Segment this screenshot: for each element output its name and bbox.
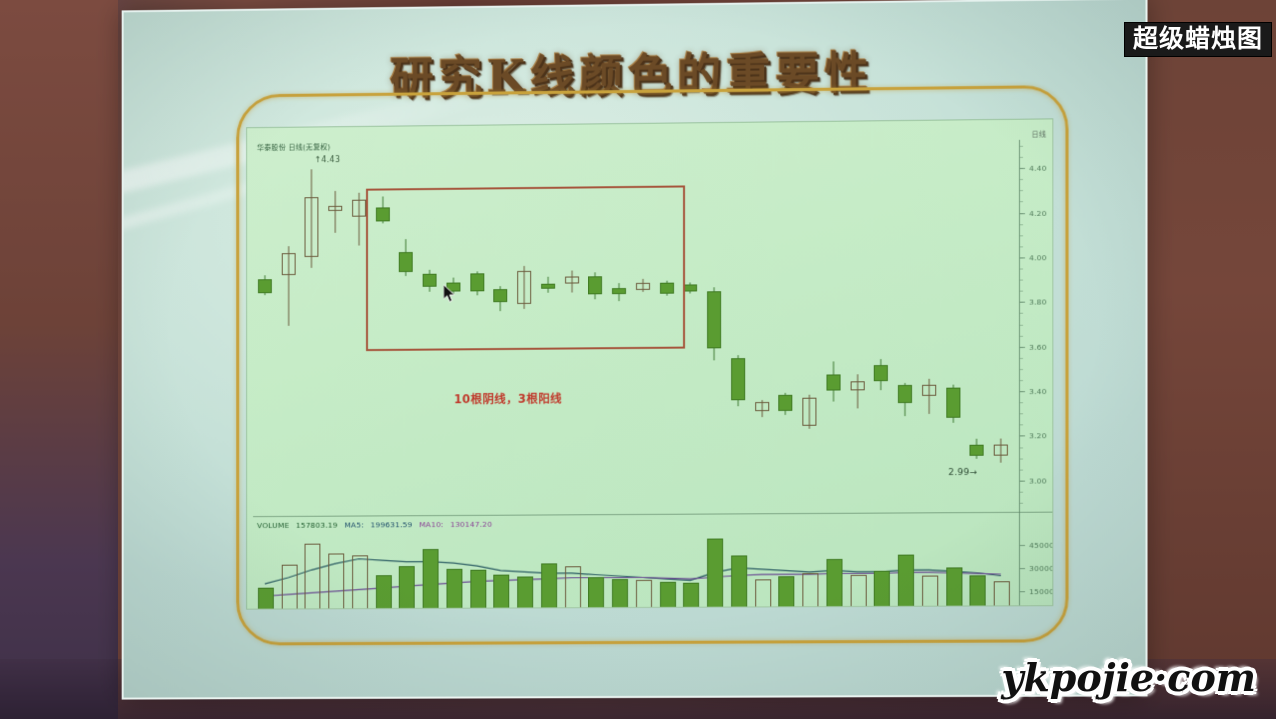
axis-minor-tick xyxy=(1020,414,1023,415)
candle-body xyxy=(970,445,984,456)
volume-bar xyxy=(994,581,1010,609)
candle-body xyxy=(281,253,295,275)
price-axis-label: 3.60 xyxy=(1029,342,1047,351)
candlestick xyxy=(281,154,295,507)
volume-bar xyxy=(970,575,986,609)
volume-bar xyxy=(946,568,962,610)
candlestick xyxy=(731,149,745,505)
axis-minor-tick xyxy=(1020,246,1023,247)
volume-bar xyxy=(898,554,914,610)
volume-axis-label: 30000 xyxy=(1029,563,1053,572)
price-axis-label: 3.20 xyxy=(1029,431,1047,440)
candle-body xyxy=(850,381,864,390)
price-axis-label: 4.40 xyxy=(1029,163,1047,172)
candlestick xyxy=(850,148,864,504)
candle-wick xyxy=(857,375,858,408)
axis-minor-tick xyxy=(1020,492,1023,493)
volume-bar xyxy=(517,576,533,610)
candle-body xyxy=(779,395,793,410)
candle-wick xyxy=(929,379,930,415)
axis-minor-tick xyxy=(1020,179,1023,180)
volume-bar xyxy=(589,577,605,609)
chart-header-corner: 日线 xyxy=(1032,129,1047,140)
candlestick xyxy=(946,147,960,504)
candle-body xyxy=(731,358,745,400)
axis-minor-tick xyxy=(1020,335,1023,336)
chart-header-title: 华泰股份 日线(无复权) xyxy=(257,142,331,153)
price-axis-label: 3.40 xyxy=(1029,387,1047,396)
axis-minor-tick xyxy=(1020,425,1023,426)
ma10-value: 130147.20 xyxy=(450,520,492,529)
axis-minor-tick xyxy=(1020,369,1023,370)
candlestick xyxy=(305,153,319,507)
candlestick xyxy=(826,148,840,504)
volume-axis-tick xyxy=(1020,568,1025,569)
volume-bar xyxy=(376,575,392,610)
candle-body xyxy=(684,285,698,292)
candle-body xyxy=(803,397,817,426)
axis-minor-tick xyxy=(1020,436,1023,437)
candle-body xyxy=(826,375,840,390)
ma10-label: MA10: xyxy=(419,520,444,529)
volume-bar xyxy=(755,579,771,609)
volume-bar xyxy=(329,554,345,610)
wall-left xyxy=(0,0,118,719)
candlestick xyxy=(329,153,343,507)
candlestick xyxy=(803,148,817,504)
candle-body xyxy=(352,199,366,217)
volume-bar xyxy=(707,538,723,610)
volume-indicator-header: VOLUME 157803.19 MA5: 199631.59 MA10: 13… xyxy=(257,520,496,530)
axis-minor-tick xyxy=(1020,313,1023,314)
candlestick xyxy=(970,146,984,503)
volume-bar xyxy=(636,580,652,610)
price-axis: 4.404.204.003.803.603.403.203.0045000300… xyxy=(1019,139,1052,605)
wall-right xyxy=(1148,0,1276,719)
axis-minor-tick xyxy=(1020,168,1023,169)
axis-minor-tick xyxy=(1020,358,1023,359)
price-axis-label: 3.00 xyxy=(1029,476,1047,485)
annotation-label: 10根阴线，3根阳线 xyxy=(454,390,562,407)
volume-label: VOLUME xyxy=(257,521,289,530)
candlestick xyxy=(352,153,366,507)
price-axis-label: 3.80 xyxy=(1029,297,1047,306)
candle-body xyxy=(874,365,888,380)
axis-minor-tick xyxy=(1020,480,1023,481)
volume-bar xyxy=(779,576,795,609)
volume-bar xyxy=(423,549,439,610)
candle-wick xyxy=(335,191,336,233)
axis-minor-tick xyxy=(1020,402,1023,403)
axis-minor-tick xyxy=(1020,146,1023,147)
volume-bar xyxy=(731,555,747,610)
axis-minor-tick xyxy=(1020,302,1023,303)
volume-axis-tick xyxy=(1020,591,1025,592)
candle-body xyxy=(922,385,936,396)
watermark-bottom-right: ykpojie·com xyxy=(1001,659,1256,697)
axis-minor-tick xyxy=(1020,291,1023,292)
candlestick xyxy=(755,149,769,505)
volume-bar xyxy=(684,583,700,610)
ma5-value: 199631.59 xyxy=(370,520,412,529)
candle-body xyxy=(994,445,1008,456)
volume-bar xyxy=(258,588,274,610)
projection-screen: 研究K线颜色的重要性 华泰股份 日线(无复权) ↑4.43 日线 10根阴线，3… xyxy=(122,0,1148,700)
axis-minor-tick xyxy=(1020,202,1023,203)
price-callout-label: 2.99→ xyxy=(948,467,977,477)
volume-axis-label: 45000 xyxy=(1029,540,1053,549)
candlestick-chart-panel: 华泰股份 日线(无复权) ↑4.43 日线 10根阴线，3根阳线 2.99→ V… xyxy=(246,118,1053,609)
candlestick xyxy=(874,147,888,503)
volume-bar xyxy=(922,576,938,610)
volume-bar xyxy=(612,579,628,610)
axis-minor-tick xyxy=(1020,324,1023,325)
axis-minor-tick xyxy=(1020,235,1023,236)
axis-minor-tick xyxy=(1020,503,1023,504)
room-background: 研究K线颜色的重要性 华泰股份 日线(无复权) ↑4.43 日线 10根阴线，3… xyxy=(0,0,1276,719)
ma5-label: MA5: xyxy=(344,520,364,529)
axis-minor-tick xyxy=(1020,213,1023,214)
volume-axis-label: 15000 xyxy=(1029,586,1053,595)
volume-bar xyxy=(352,555,368,609)
candlestick xyxy=(684,149,698,504)
volume-bar xyxy=(565,567,581,610)
candle-body xyxy=(305,197,319,257)
volume-bar xyxy=(446,569,462,610)
candlestick xyxy=(707,149,721,505)
candlestick xyxy=(898,147,912,503)
volume-bar xyxy=(305,543,321,609)
axis-minor-tick xyxy=(1020,190,1023,191)
volume-bar xyxy=(281,565,297,610)
volume-bar xyxy=(826,559,842,610)
candle-body xyxy=(755,402,769,411)
candle-body xyxy=(898,385,912,403)
volume-bar xyxy=(803,573,819,610)
watermark-top-right: 超级蜡烛图 xyxy=(1124,22,1272,57)
candle-body xyxy=(707,291,721,349)
volume-bar xyxy=(470,570,486,610)
axis-minor-tick xyxy=(1020,458,1023,459)
axis-minor-tick xyxy=(1020,347,1023,348)
volume-bar xyxy=(850,574,866,609)
mouse-cursor-icon xyxy=(444,285,458,304)
axis-minor-tick xyxy=(1020,380,1023,381)
volume-bar xyxy=(399,566,415,610)
axis-minor-tick xyxy=(1020,269,1023,270)
price-axis-label: 4.00 xyxy=(1029,253,1047,262)
candlestick xyxy=(779,148,793,504)
candlestick xyxy=(922,147,936,504)
volume-bar xyxy=(541,564,557,610)
volume-axis-tick xyxy=(1020,545,1025,546)
highlight-rectangle xyxy=(366,185,685,351)
candlestick xyxy=(994,146,1008,503)
volume-divider xyxy=(253,512,1053,517)
price-axis-label: 4.20 xyxy=(1029,208,1047,217)
axis-minor-tick xyxy=(1020,257,1023,258)
candlestick xyxy=(258,154,272,507)
axis-minor-tick xyxy=(1020,157,1023,158)
axis-minor-tick xyxy=(1020,391,1023,392)
volume-plot-area xyxy=(253,534,1013,610)
axis-minor-tick xyxy=(1020,280,1023,281)
axis-minor-tick xyxy=(1020,447,1023,448)
axis-minor-tick xyxy=(1020,224,1023,225)
volume-bar xyxy=(494,575,510,610)
candle-body xyxy=(329,206,343,211)
candle-body xyxy=(946,387,960,418)
candle-body xyxy=(258,280,272,293)
volume-bar xyxy=(660,581,676,609)
volume-bar xyxy=(874,571,890,609)
axis-minor-tick xyxy=(1020,469,1023,470)
volume-value: 157803.19 xyxy=(296,521,338,530)
